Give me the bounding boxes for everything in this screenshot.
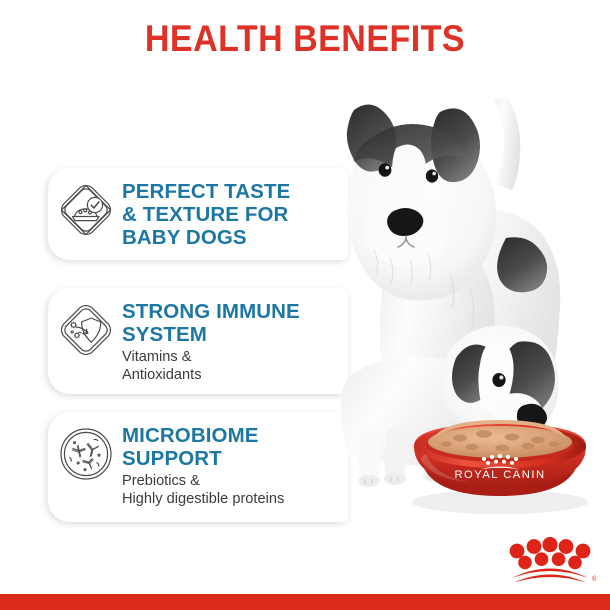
benefit-title: STRONG IMMUNE SYSTEM (122, 300, 340, 346)
dogs-product-photo: ROYAL CANIN (310, 78, 610, 538)
benefit-subtitle: Vitamins & Antioxidants (122, 349, 340, 385)
svg-text:ROYAL CANIN: ROYAL CANIN (454, 469, 545, 481)
benefit-card-perfect-taste: PERFECT TASTE & TEXTURE FOR BABY DOGS (48, 168, 348, 260)
shield-germs-icon (58, 302, 114, 358)
benefit-subtitle: Prebiotics & Highly digestible proteins (122, 473, 340, 509)
page-title: HEALTH BENEFITS (24, 20, 585, 57)
benefit-title: MICROBIOME SUPPORT (122, 424, 340, 470)
health-benefits-panel: HEALTH BENEFITS PERFECT TASTE & TEXTURE … (0, 0, 610, 610)
food-bowl-check-icon (58, 182, 114, 238)
benefit-text: MICROBIOME SUPPORT Prebiotics & Highly d… (122, 422, 340, 509)
benefit-text: PERFECT TASTE & TEXTURE FOR BABY DOGS (122, 178, 340, 249)
royal-canin-crown-logo: ® (504, 536, 596, 588)
microbiome-bacteria-icon (58, 426, 114, 482)
benefit-title: PERFECT TASTE & TEXTURE FOR BABY DOGS (122, 180, 340, 249)
benefit-card-strong-immune-system: STRONG IMMUNE SYSTEM Vitamins & Antioxid… (48, 288, 348, 394)
benefit-text: STRONG IMMUNE SYSTEM Vitamins & Antioxid… (122, 298, 340, 385)
benefit-card-microbiome-support: MICROBIOME SUPPORT Prebiotics & Highly d… (48, 412, 348, 522)
registered-mark: ® (592, 575, 596, 583)
bottom-accent-bar (0, 594, 610, 610)
